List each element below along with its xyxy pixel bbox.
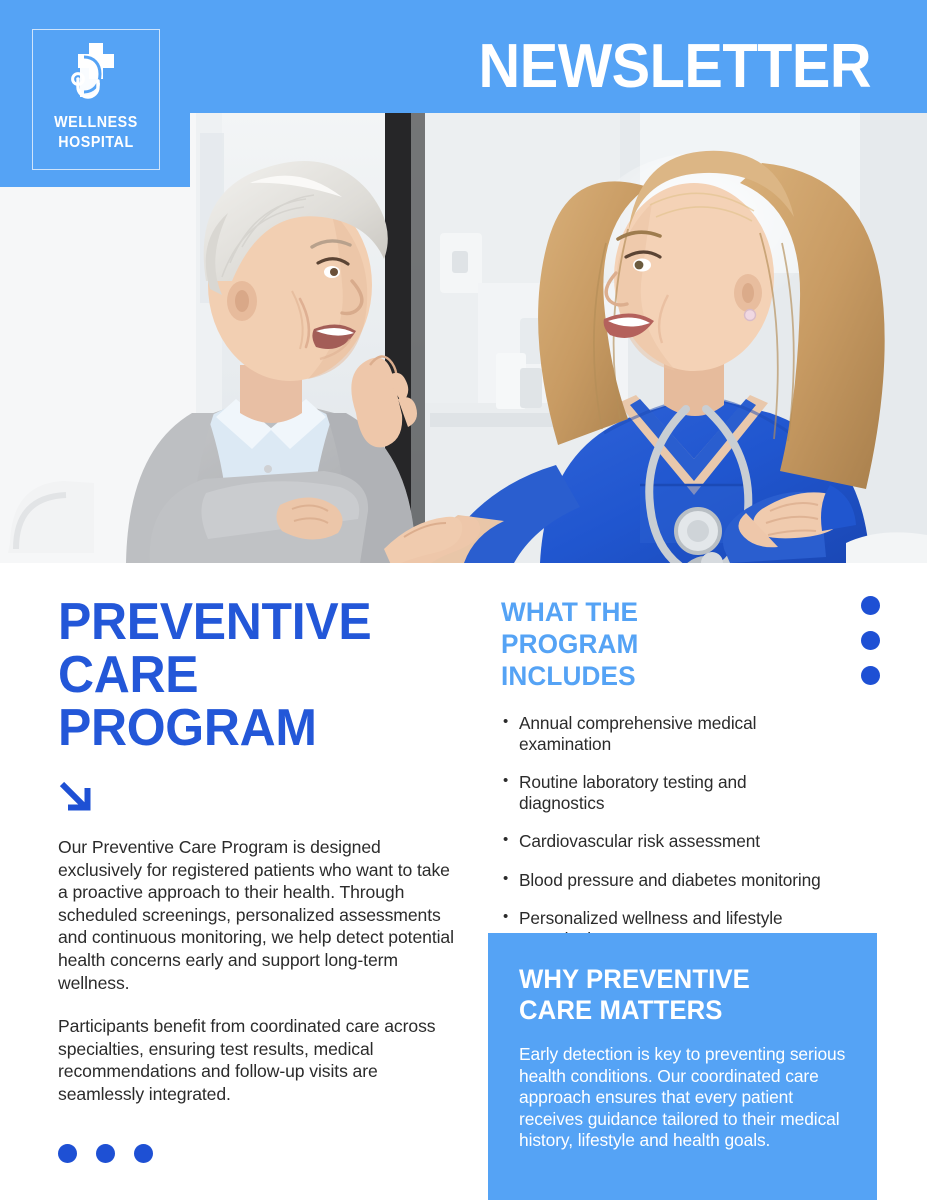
list-item: Cardiovascular risk assessment <box>501 831 836 852</box>
decorative-dots-row <box>58 1144 153 1163</box>
logo-name-line2: HOSPITAL <box>58 134 133 151</box>
intro-paragraph-1: Our Preventive Care Program is designed … <box>58 836 458 994</box>
dot-indicator <box>58 1144 77 1163</box>
callout-heading-line2: MATTERS <box>599 995 722 1025</box>
dot-indicator <box>861 666 880 685</box>
dot-indicator <box>96 1144 115 1163</box>
callout-box: WHY PREVENTIVE CARE MATTERS Early detect… <box>488 933 877 1200</box>
includes-heading: WHAT THE PROGRAM INCLUDES <box>501 596 763 692</box>
main-heading-line1: PREVENTIVE <box>58 593 371 651</box>
logo-frame: WELLNESS HOSPITAL <box>32 29 160 170</box>
newsletter-page: NEWSLETTER WELLNESS HOSPITAL <box>0 0 927 1200</box>
page-title: NEWSLETTER <box>478 36 871 98</box>
list-item: Blood pressure and diabetes monitoring <box>501 870 836 891</box>
includes-heading-line2: INCLUDES <box>501 661 636 691</box>
callout-paragraph: Early detection is key to preventing ser… <box>519 1044 847 1152</box>
dot-indicator <box>861 631 880 650</box>
includes-heading-line1: WHAT THE PROGRAM <box>501 597 638 659</box>
list-item: Annual comprehensive medical examination <box>501 713 836 754</box>
logo-name: WELLNESS HOSPITAL <box>38 113 154 153</box>
callout-heading: WHY PREVENTIVE CARE MATTERS <box>519 964 820 1026</box>
intro-paragraph-2: Participants benefit from coordinated ca… <box>58 1015 458 1105</box>
dot-indicator <box>861 596 880 615</box>
left-column: PREVENTIVE CARE PROGRAM Our Preventive C… <box>58 596 458 1106</box>
logo-block[interactable]: WELLNESS HOSPITAL <box>0 0 190 187</box>
content-area: PREVENTIVE CARE PROGRAM Our Preventive C… <box>0 563 927 1200</box>
medical-cross-stethoscope-icon <box>62 41 130 107</box>
main-heading: PREVENTIVE CARE PROGRAM <box>58 596 442 755</box>
logo-name-line1: WELLNESS <box>54 114 138 131</box>
arrow-down-right-icon <box>58 778 94 814</box>
decorative-dots-column <box>861 596 880 685</box>
dot-indicator <box>134 1144 153 1163</box>
main-heading-line2: CARE PROGRAM <box>58 646 317 757</box>
program-includes-list: Annual comprehensive medical examination… <box>501 713 871 949</box>
list-item: Routine laboratory testing and diagnosti… <box>501 772 836 813</box>
right-column: WHAT THE PROGRAM INCLUDES Annual compreh… <box>501 596 871 967</box>
